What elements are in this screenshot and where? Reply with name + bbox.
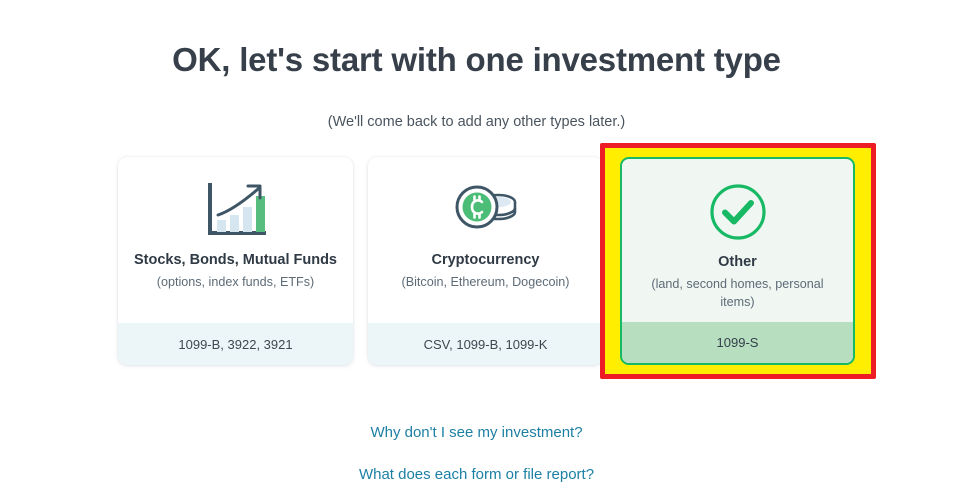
- investment-card-other[interactable]: Other (land, second homes, personal item…: [620, 157, 855, 365]
- investment-type-page: OK, let's start with one investment type…: [0, 0, 953, 502]
- investment-card-forms: 1099-B, 3922, 3921: [118, 323, 353, 365]
- page-subtitle: (We'll come back to add any other types …: [0, 114, 953, 130]
- investment-card-forms: 1099-S: [622, 322, 853, 363]
- investment-card-subtitle: (Bitcoin, Ethereum, Dogecoin): [384, 274, 588, 291]
- page-title: OK, let's start with one investment type: [0, 41, 953, 79]
- investment-card-title: Stocks, Bonds, Mutual Funds: [134, 251, 337, 269]
- investment-card-subtitle: (options, index funds, ETFs): [139, 274, 333, 291]
- investment-type-card-row: Stocks, Bonds, Mutual Funds (options, in…: [0, 157, 953, 367]
- crypto-coins-icon: [451, 171, 521, 249]
- investment-card-stocks[interactable]: Stocks, Bonds, Mutual Funds (options, in…: [118, 157, 353, 365]
- link-what-does-each-form-report[interactable]: What does each form or file report?: [0, 466, 953, 483]
- check-circle-icon: [708, 173, 768, 251]
- investment-card-title: Other: [718, 253, 757, 271]
- bar-chart-growth-icon: [202, 171, 270, 249]
- investment-card-title: Cryptocurrency: [432, 251, 540, 269]
- investment-card-forms: CSV, 1099-B, 1099-K: [368, 323, 603, 365]
- link-why-dont-i-see-my-investment[interactable]: Why don't I see my investment?: [0, 424, 953, 441]
- investment-card-cryptocurrency[interactable]: Cryptocurrency (Bitcoin, Ethereum, Dogec…: [368, 157, 603, 365]
- investment-card-subtitle: (land, second homes, personal items): [622, 276, 853, 311]
